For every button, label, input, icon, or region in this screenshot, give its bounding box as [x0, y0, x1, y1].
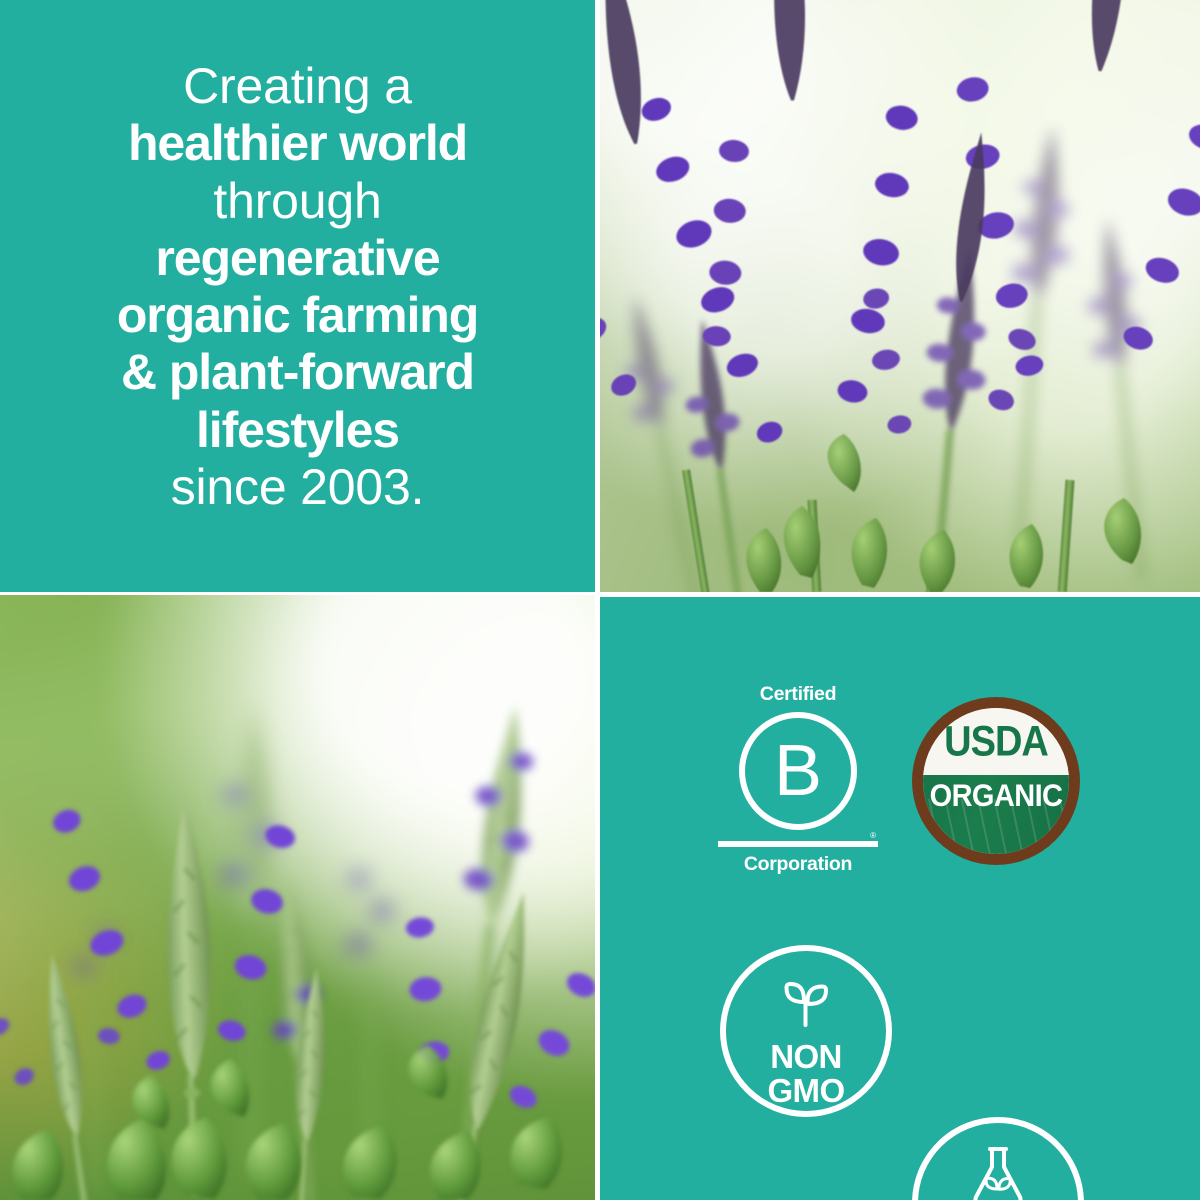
nongmo-line-2: GMO — [767, 1074, 844, 1108]
headline-text-block: Creating a healthier world through regen… — [0, 58, 595, 516]
registered-trademark-icon: ® — [718, 832, 876, 840]
badge-certified-b-corporation[interactable]: Certified B ® Corporation — [718, 685, 878, 875]
salvia-field-illustration — [0, 595, 595, 1200]
usda-seal-bottom-half: ORGANIC — [923, 775, 1069, 854]
usda-top-label: USDA — [944, 720, 1048, 763]
salvia-field-photo — [0, 595, 595, 1200]
bcorp-bottom-label: Corporation — [718, 855, 878, 875]
headline-line-4: regenerative — [0, 230, 595, 287]
badge-grid: Certified B ® Corporation USDA ORGANIC — [600, 597, 1200, 1200]
salvia-plants-illustration — [600, 0, 1200, 592]
flask-leaf-icon — [968, 1145, 1028, 1200]
bcorp-top-label: Certified — [718, 685, 878, 705]
headline-line-7: lifestyles — [0, 402, 595, 459]
certifications-panel: Certified B ® Corporation USDA ORGANIC — [600, 597, 1200, 1200]
badge-non-gmo[interactable]: NON GMO — [720, 945, 892, 1117]
bcorp-divider-rule — [718, 841, 878, 847]
sprout-leaf-icon — [779, 979, 833, 1034]
headline-line-5: organic farming — [0, 287, 595, 344]
promo-graphic: Creating a healthier world through regen… — [0, 0, 1200, 1200]
headline-line-3: through — [0, 173, 595, 230]
photo-canvas-bottom-left — [0, 595, 595, 1200]
headline-line-2: healthier world — [0, 115, 595, 172]
headline-panel: Creating a healthier world through regen… — [0, 0, 595, 592]
headline-line-1: Creating a — [0, 58, 595, 115]
nongmo-caption: NON GMO — [767, 1040, 844, 1107]
usda-seal-inner: USDA ORGANIC — [923, 708, 1069, 854]
usda-organic-seal-icon: USDA ORGANIC — [912, 697, 1080, 865]
badge-usda-organic[interactable]: USDA ORGANIC — [912, 697, 1080, 865]
badge-third-party-tested[interactable]: THIRD PARTY TESTED — [912, 1117, 1084, 1200]
salvia-closeup-photo — [600, 0, 1200, 592]
usda-bottom-label: ORGANIC — [930, 781, 1063, 813]
photo-canvas-top-right — [600, 0, 1200, 592]
b-corp-icon: B — [739, 712, 857, 830]
bcorp-letter: B — [745, 718, 851, 824]
headline-line-8: since 2003. — [0, 459, 595, 516]
nongmo-line-1: NON — [767, 1040, 844, 1074]
headline-line-6: & plant-forward — [0, 344, 595, 401]
usda-seal-top-half: USDA — [923, 708, 1069, 775]
